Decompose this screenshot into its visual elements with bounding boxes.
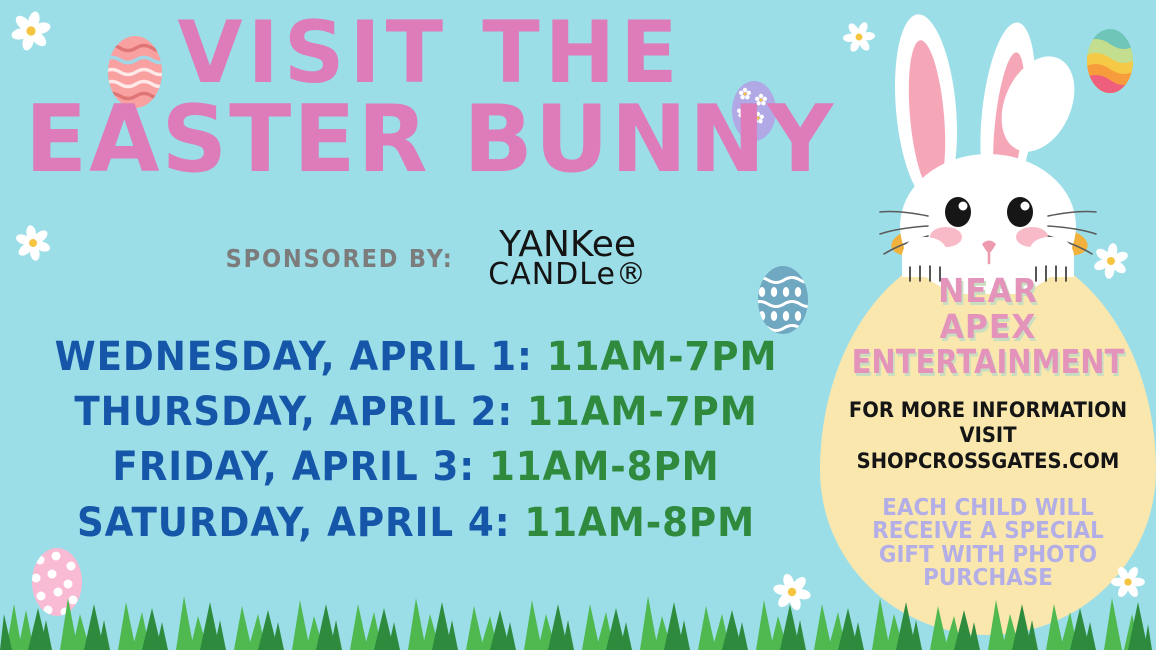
gift-line-3: GIFT WITH PHOTO — [832, 544, 1144, 567]
gift-offer-block: EACH CHILD WILL RECEIVE A SPECIAL GIFT W… — [832, 497, 1144, 591]
info-line-2: VISIT SHOPCROSSGATES.COM — [832, 423, 1144, 474]
sponsor-label: SPONSORED BY: — [226, 244, 454, 273]
schedule-time: 11AM-7PM — [547, 334, 778, 380]
schedule-row: WEDNESDAY, APRIL 1: 11AM-7PM — [29, 330, 803, 385]
location-line-2: APEX — [828, 309, 1147, 345]
gift-line-2: RECEIVE A SPECIAL — [832, 520, 1144, 543]
schedule-day: THURSDAY, APRIL 2: — [74, 389, 513, 435]
grass-border — [0, 580, 1156, 650]
more-info-block: FOR MORE INFORMATION VISIT SHOPCROSSGATE… — [832, 398, 1144, 475]
daisy-icon — [1090, 240, 1132, 282]
sponsor-row: SPONSORED BY: YANKee CANDLe® — [0, 228, 860, 289]
yankee-candle-logo: YANKee CANDLe® — [488, 228, 647, 289]
sponsor-logo-line-2: CANDLe® — [488, 261, 647, 289]
schedule-day: FRIDAY, APRIL 3: — [112, 444, 475, 490]
headline: VISIT THE EASTER BUNNY — [0, 12, 860, 184]
egg-panel-content: NEAR APEX ENTERTAINMENT FOR MORE INFORMA… — [820, 243, 1156, 635]
schedule-time: 11AM-8PM — [489, 444, 720, 490]
location-line-3: ENTERTAINMENT — [840, 344, 1136, 380]
gift-line-1: EACH CHILD WILL — [832, 497, 1144, 520]
schedule-row: FRIDAY, APRIL 3: 11AM-8PM — [29, 440, 803, 495]
title-line-1: VISIT THE — [9, 12, 852, 95]
schedule-row: SATURDAY, APRIL 4: 11AM-8PM — [29, 496, 803, 551]
schedule-day: WEDNESDAY, APRIL 1: — [55, 334, 533, 380]
schedule-day: SATURDAY, APRIL 4: — [77, 500, 511, 546]
info-line-1: FOR MORE INFORMATION — [832, 398, 1144, 424]
easter-bunny-poster: VISIT THE EASTER BUNNY SPONSORED BY: YAN… — [0, 0, 1156, 650]
schedule-list: WEDNESDAY, APRIL 1: 11AM-7PM THURSDAY, A… — [0, 330, 832, 551]
schedule-time: 11AM-8PM — [524, 500, 755, 546]
schedule-row: THURSDAY, APRIL 2: 11AM-7PM — [29, 385, 803, 440]
schedule-time: 11AM-7PM — [527, 389, 758, 435]
title-line-2: EASTER BUNNY — [9, 95, 852, 184]
